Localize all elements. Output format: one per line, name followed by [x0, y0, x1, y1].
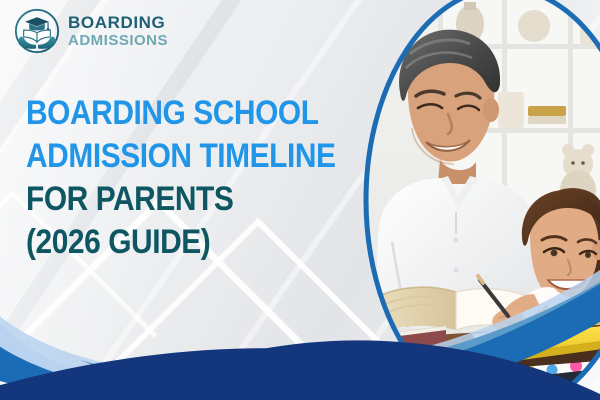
- headline-line-4: (2026 GUIDE): [26, 225, 334, 259]
- headline: BOARDING SCHOOL ADMISSION TIMELINE FOR P…: [26, 96, 376, 268]
- brand-name-primary: BOARDING: [68, 14, 168, 31]
- hero-photo: [352, 0, 600, 400]
- headline-line-2: ADMISSION TIMELINE: [26, 139, 334, 173]
- brand-name-secondary: ADMISSIONS: [68, 33, 168, 48]
- brand-logo-text: BOARDING ADMISSIONS: [68, 14, 168, 48]
- graduation-cap-book-hands-emblem-icon: [14, 8, 60, 54]
- promo-banner: BOARDING ADMISSIONS BOARDING SCHOOL ADMI…: [0, 0, 600, 400]
- brand-logo[interactable]: BOARDING ADMISSIONS: [14, 8, 168, 54]
- hero-photo-illustration: [352, 0, 600, 400]
- headline-line-3: FOR PARENTS: [26, 182, 334, 216]
- headline-line-1: BOARDING SCHOOL: [26, 96, 334, 130]
- hero-photo-clip: [352, 0, 600, 400]
